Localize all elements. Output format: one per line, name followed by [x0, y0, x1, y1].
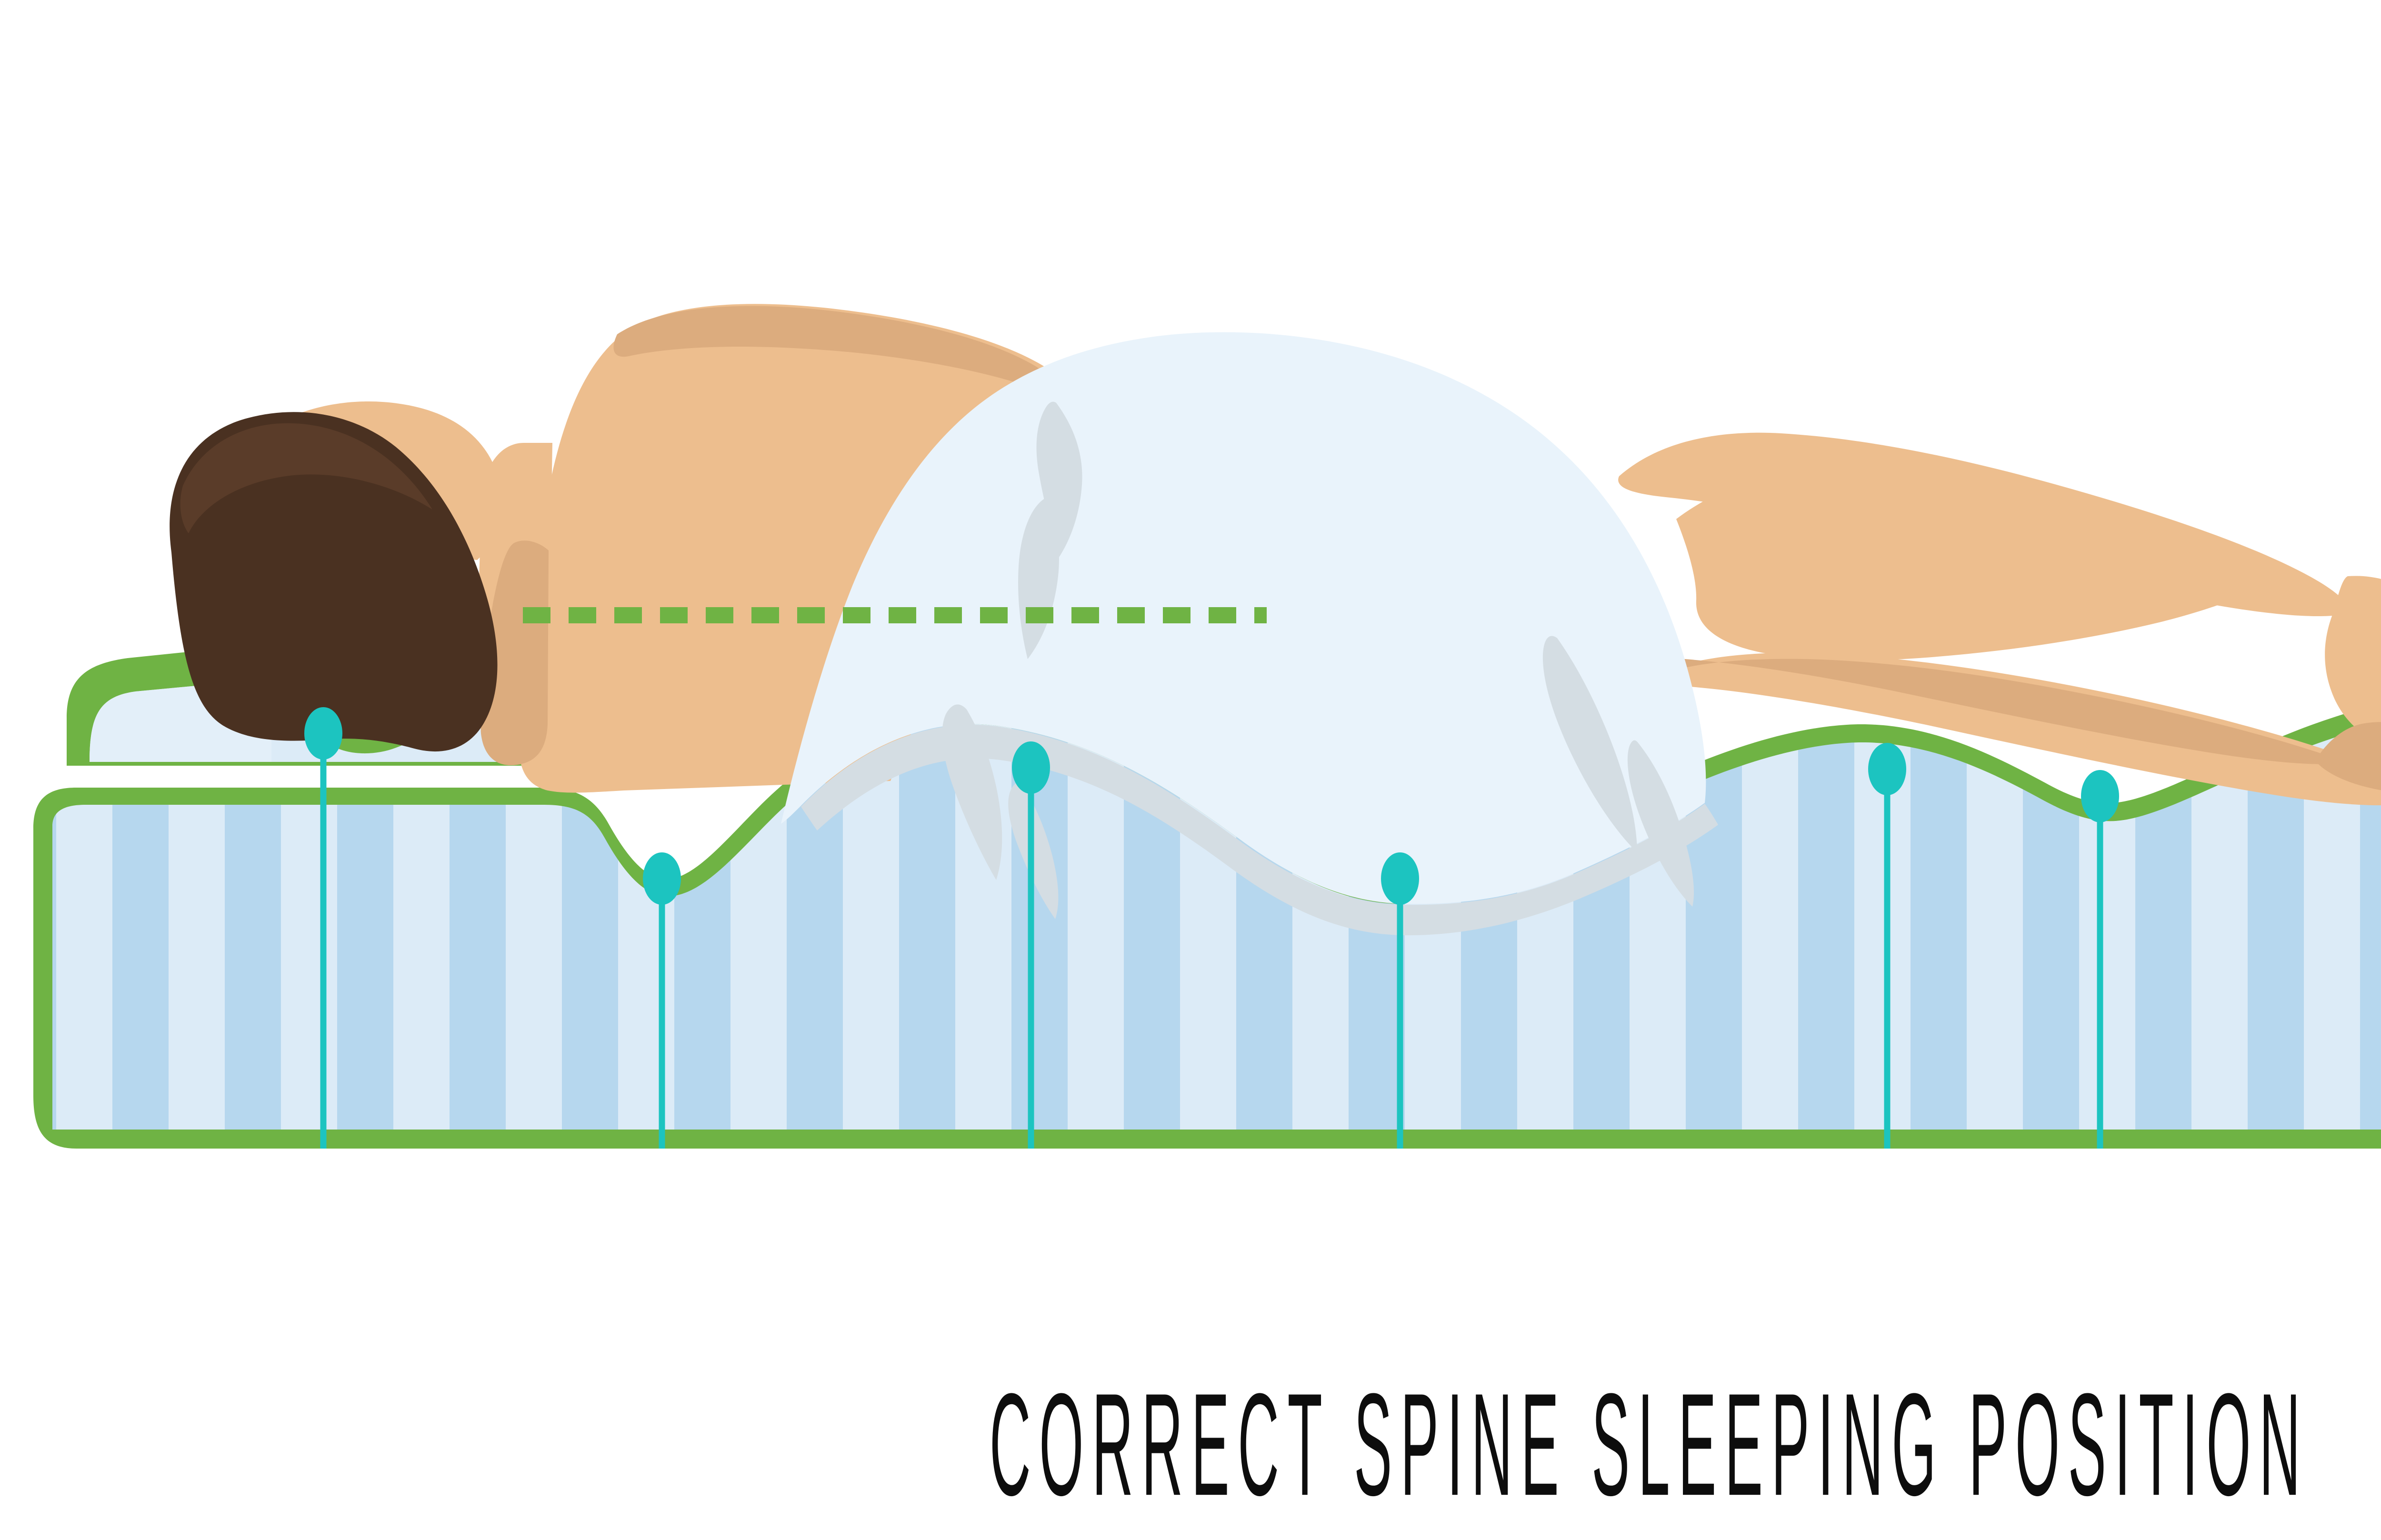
illustration-canvas: CORRECT SPINE SLEEPING POSITION [0, 0, 2381, 1540]
sleeping-position-illustration [0, 0, 2381, 1540]
